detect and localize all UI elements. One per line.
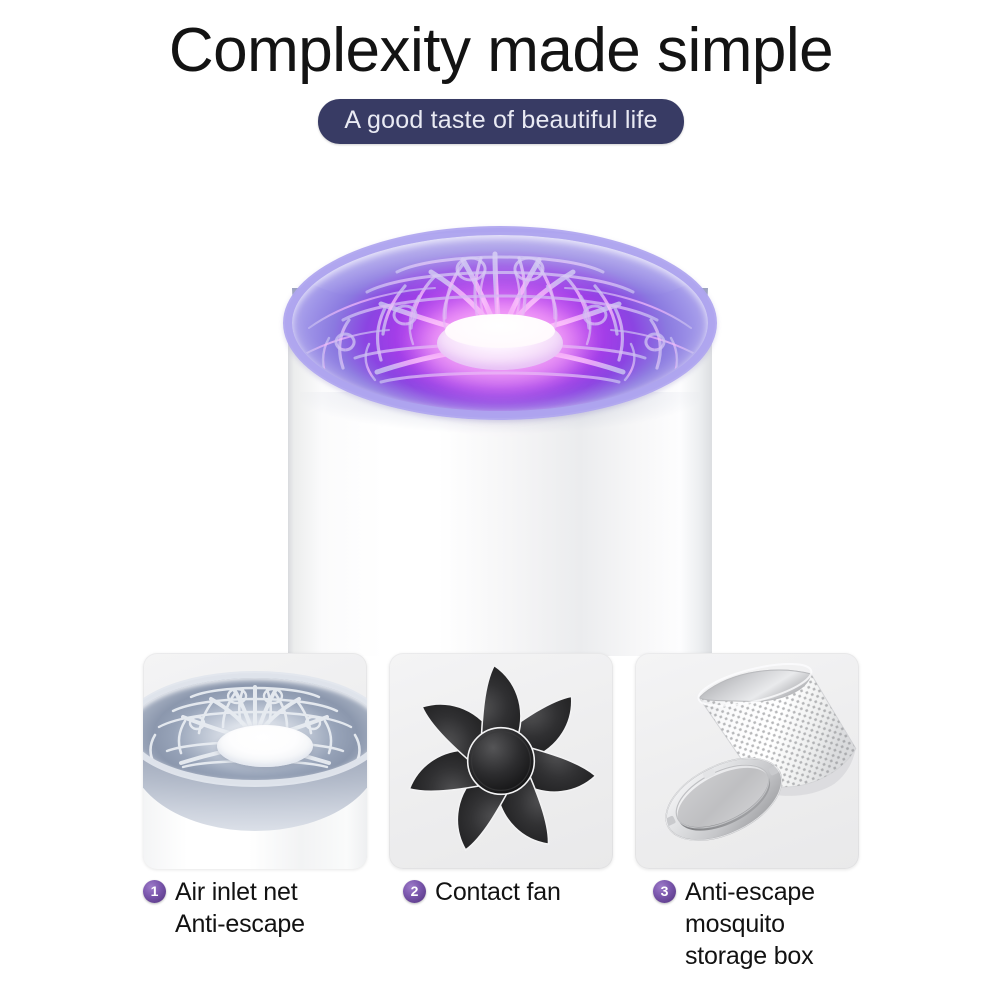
product-uv-bowl <box>285 228 715 418</box>
product-bowl-rim <box>283 226 717 420</box>
subtitle-pill: A good taste of beautiful life <box>318 99 683 144</box>
page-title: Complexity made simple <box>0 0 1002 85</box>
hero-product-image <box>0 196 1002 656</box>
subtitle-text: A good taste of beautiful life <box>344 106 657 134</box>
caption-line: storage box <box>685 940 815 972</box>
feature-caption-row: 1 Air inlet net Anti-escape 2 Contact fa… <box>143 876 923 972</box>
caption-contact-fan: 2 Contact fan <box>389 876 643 972</box>
caption-text-2: Contact fan <box>435 876 561 908</box>
badge-number-3: 3 <box>653 880 676 903</box>
caption-line: Anti-escape <box>175 908 305 940</box>
mosquito-storage-box-icon <box>635 653 859 869</box>
caption-line: mosquito <box>685 908 815 940</box>
badge-number-1: 1 <box>143 880 166 903</box>
feature-card-row <box>143 653 859 869</box>
caption-line: Anti-escape <box>685 876 815 908</box>
caption-text-1: Air inlet net Anti-escape <box>175 876 305 940</box>
feature-card-air-inlet-net[interactable] <box>143 653 367 869</box>
feature-card-contact-fan[interactable] <box>389 653 613 869</box>
caption-line: Air inlet net <box>175 876 305 908</box>
caption-storage-box: 3 Anti-escape mosquito storage box <box>643 876 903 972</box>
contact-fan-icon <box>403 661 599 861</box>
air-inlet-rim <box>143 671 367 787</box>
caption-air-inlet-net: 1 Air inlet net Anti-escape <box>143 876 389 972</box>
badge-number-2: 2 <box>403 880 426 903</box>
feature-card-storage-box[interactable] <box>635 653 859 869</box>
caption-line: Contact fan <box>435 876 561 908</box>
header: Complexity made simple A good taste of b… <box>0 0 1002 144</box>
caption-text-3: Anti-escape mosquito storage box <box>685 876 815 972</box>
